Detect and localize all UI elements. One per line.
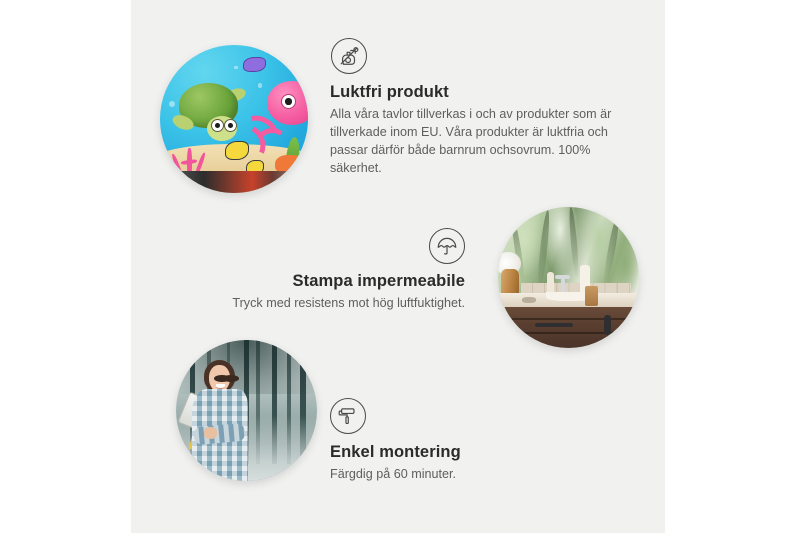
soap-dish bbox=[522, 297, 536, 303]
no-odor-perfume-bottle-icon bbox=[331, 38, 367, 74]
smile bbox=[216, 384, 224, 389]
umbrella-icon bbox=[429, 228, 465, 264]
feature-body: Alla våra tavlor tillverkas i och av pro… bbox=[330, 106, 625, 178]
forest-mural-scene bbox=[176, 340, 317, 481]
paint-roller-icon bbox=[330, 398, 366, 434]
feature-body: Tryck med resistens mot hög luftfuktighe… bbox=[215, 295, 465, 313]
feature-easy-mounting: Enkel montering Färgdig på 60 minuter. bbox=[330, 398, 590, 484]
feature-body: Färgdig på 60 minuter. bbox=[330, 466, 590, 484]
hand-towel bbox=[585, 286, 598, 306]
product-feature-page: Luktfri produkt Alla våra tavlor tillver… bbox=[0, 0, 800, 533]
product-image-woman-paint-roller-forest bbox=[176, 340, 317, 481]
feature-title: Stampa impermeabile bbox=[215, 272, 465, 291]
product-image-bathroom-tropical-wallpaper bbox=[498, 207, 639, 348]
bubble-icon bbox=[234, 66, 238, 70]
feature-odorless: Luktfri produkt Alla våra tavlor tillver… bbox=[330, 38, 625, 178]
scene-foreground-strip bbox=[181, 171, 308, 193]
feature-waterproof: Stampa impermeabile Tryck med resistens … bbox=[215, 228, 465, 313]
fish-icon bbox=[243, 57, 266, 72]
icon-wrap bbox=[330, 398, 590, 434]
icon-wrap bbox=[215, 228, 465, 264]
feature-title: Enkel montering bbox=[330, 443, 590, 462]
tree-canopy-shadow bbox=[176, 340, 317, 394]
feature-title: Luktfri produkt bbox=[330, 83, 625, 102]
bubble-icon bbox=[169, 101, 175, 107]
bathroom-scene bbox=[498, 207, 639, 348]
underwater-scene bbox=[160, 45, 308, 193]
hand bbox=[204, 427, 217, 438]
bubble-icon bbox=[258, 83, 262, 87]
vanity-cabinet bbox=[504, 307, 639, 348]
product-image-underwater-cartoon bbox=[160, 45, 308, 193]
icon-wrap bbox=[330, 38, 625, 74]
